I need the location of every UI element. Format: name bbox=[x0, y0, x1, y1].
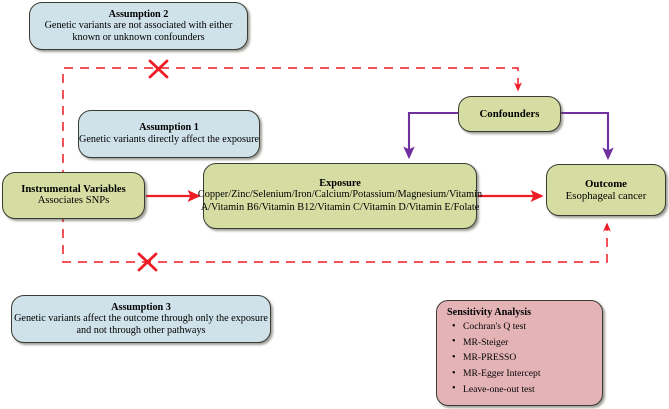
assumption-1-text: Genetic variants directly affect the exp… bbox=[79, 134, 259, 146]
diagram-canvas: Assumption 2 Genetic variants are not as… bbox=[0, 0, 669, 409]
sensitivity-analysis-title: Sensitivity Analysis bbox=[447, 307, 531, 318]
exposure-box: Exposure Copper/Zinc/Selenium/Iron/Calci… bbox=[203, 163, 477, 229]
list-item: Cochran's Q test bbox=[463, 319, 541, 335]
instrumental-variables-title: Instrumental Variables bbox=[21, 184, 125, 196]
cross-top-icon bbox=[150, 61, 167, 77]
assumption-3-box: Assumption 3 Genetic variants affect the… bbox=[11, 295, 271, 343]
list-item: MR-PRESSO bbox=[463, 350, 541, 366]
confounders-box: Confounders bbox=[458, 96, 561, 132]
edge-confounders-to-outcome bbox=[561, 113, 608, 158]
assumption-2-box: Assumption 2 Genetic variants are not as… bbox=[29, 2, 248, 50]
confounders-title: Confounders bbox=[480, 108, 540, 120]
sensitivity-analysis-list: Cochran's Q test MR-Steiger MR-PRESSO MR… bbox=[447, 319, 541, 397]
edge-confounders-to-exposure bbox=[409, 113, 458, 157]
exposure-subtitle: Copper/Zinc/Selenium/Iron/Calcium/Potass… bbox=[198, 189, 482, 214]
outcome-box: Outcome Esophageal cancer bbox=[546, 164, 666, 216]
sensitivity-analysis-box: Sensitivity Analysis Cochran's Q test MR… bbox=[436, 300, 603, 406]
list-item: MR-Steiger bbox=[463, 335, 541, 351]
assumption-2-title: Assumption 2 bbox=[109, 9, 169, 20]
exposure-title: Exposure bbox=[319, 178, 361, 190]
outcome-title: Outcome bbox=[585, 178, 627, 190]
outcome-subtitle: Esophageal cancer bbox=[566, 190, 647, 202]
list-item: Leave-one-out test bbox=[463, 382, 541, 398]
assumption-1-title: Assumption 1 bbox=[139, 122, 199, 133]
list-item: MR-Egger Intercept bbox=[463, 366, 541, 382]
instrumental-variables-subtitle: Associates SNPs bbox=[38, 195, 110, 207]
assumption-1-box: Assumption 1 Genetic variants directly a… bbox=[78, 110, 260, 158]
assumption-3-text: Genetic variants affect the outcome thro… bbox=[12, 313, 270, 336]
assumption-3-title: Assumption 3 bbox=[111, 302, 171, 313]
instrumental-variables-box: Instrumental Variables Associates SNPs bbox=[2, 172, 145, 219]
cross-bottom-icon bbox=[139, 254, 156, 270]
assumption-2-text: Genetic variants are not associated with… bbox=[30, 20, 247, 43]
